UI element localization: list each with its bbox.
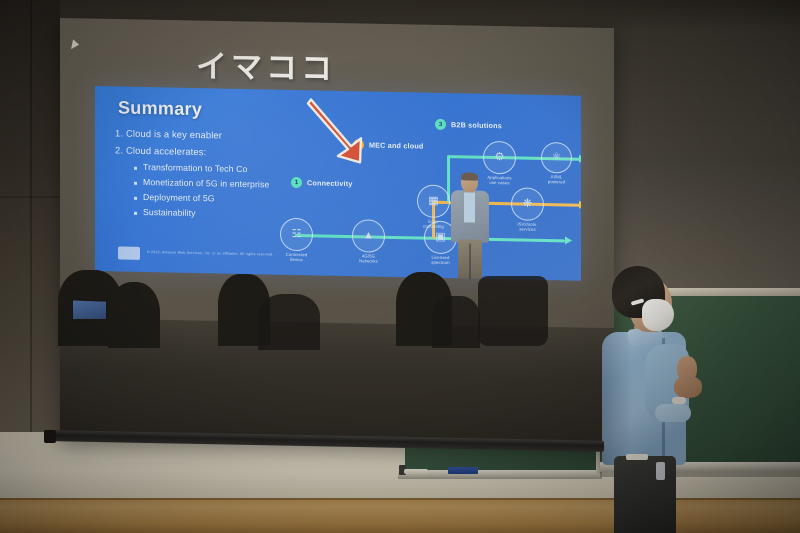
node-networks: ▲ 4G/5GNetworks (352, 219, 385, 253)
node-connected-device: ☷ Connecteddevice (280, 218, 313, 252)
applications-icon: ⚙ (495, 152, 505, 163)
face-mask-icon (642, 299, 674, 331)
step-number: 1 (291, 177, 302, 188)
node-isv-solution: ❋ ISVs/solu.services (511, 187, 544, 221)
speaker-hair (461, 172, 478, 180)
node-label: 4G/5GNetworks (339, 253, 399, 265)
annotation-text-imakoko: イマココ (196, 41, 336, 88)
step-label: B2B solutions (451, 120, 502, 130)
presenter-belt (626, 454, 648, 460)
red-annotation-arrow-icon (305, 95, 375, 168)
server-rack-icon: ▦ (428, 196, 438, 207)
aws-logo-icon (118, 246, 140, 259)
presenter-shirt-shadow (602, 332, 632, 465)
node-label: AI/MLpowered (527, 174, 582, 186)
step-badge-connectivity: 1 Connectivity (291, 177, 353, 189)
laptop-base (68, 319, 110, 323)
presenter-pocket-item (656, 462, 665, 480)
step-label: MEC and cloud (369, 141, 424, 151)
audience-silhouettes (0, 268, 614, 440)
ai-brain-icon: ⚛ (552, 152, 562, 163)
presenter-hand-upper (677, 356, 697, 382)
node-ai-ml: ⚛ AI/MLpowered (541, 142, 572, 174)
speaker-shirt (464, 192, 475, 222)
wall-seam-horizontal (0, 196, 60, 198)
presenter-wrist-item (672, 397, 686, 404)
chalk-icon (404, 469, 428, 474)
device-network-icon: ☷ (292, 229, 302, 240)
step-label: Connectivity (307, 178, 353, 188)
projection-screen-bar-cap (44, 430, 56, 443)
node-applications: ⚙ Applicationsuse cases (483, 141, 516, 175)
presenter-person (598, 266, 748, 533)
arrowhead-orange (579, 201, 581, 209)
node-edge-computing: ▦ Edgecomputing (417, 184, 450, 218)
step-number: 3 (435, 119, 446, 130)
arrowhead-green-top (579, 155, 581, 163)
chalk-tray-left (398, 470, 602, 479)
node-label: Connecteddevice (267, 251, 327, 263)
audience-silhouette (258, 294, 320, 350)
presenter-sleeve-cuff (655, 404, 691, 422)
solution-network-icon: ❋ (523, 199, 532, 210)
audience-silhouette (478, 276, 548, 346)
arrowhead-green-bottom (565, 236, 572, 244)
slide-embedded-speaker-photo (447, 173, 493, 279)
cell-tower-icon: ▲ (363, 230, 374, 241)
step-badge-b2b: 3 B2B solutions (435, 119, 502, 131)
lecture-hall-photo: イマココ Summary 1. Cloud is a key enabler 2… (0, 0, 800, 533)
node-label: ISVs/solu.services (498, 221, 558, 233)
presenter-trousers (614, 456, 676, 533)
audience-silhouette (108, 282, 160, 348)
spectrum-icon: ▣ (435, 232, 445, 243)
audience-silhouette (432, 296, 480, 348)
eraser-icon (448, 467, 478, 474)
